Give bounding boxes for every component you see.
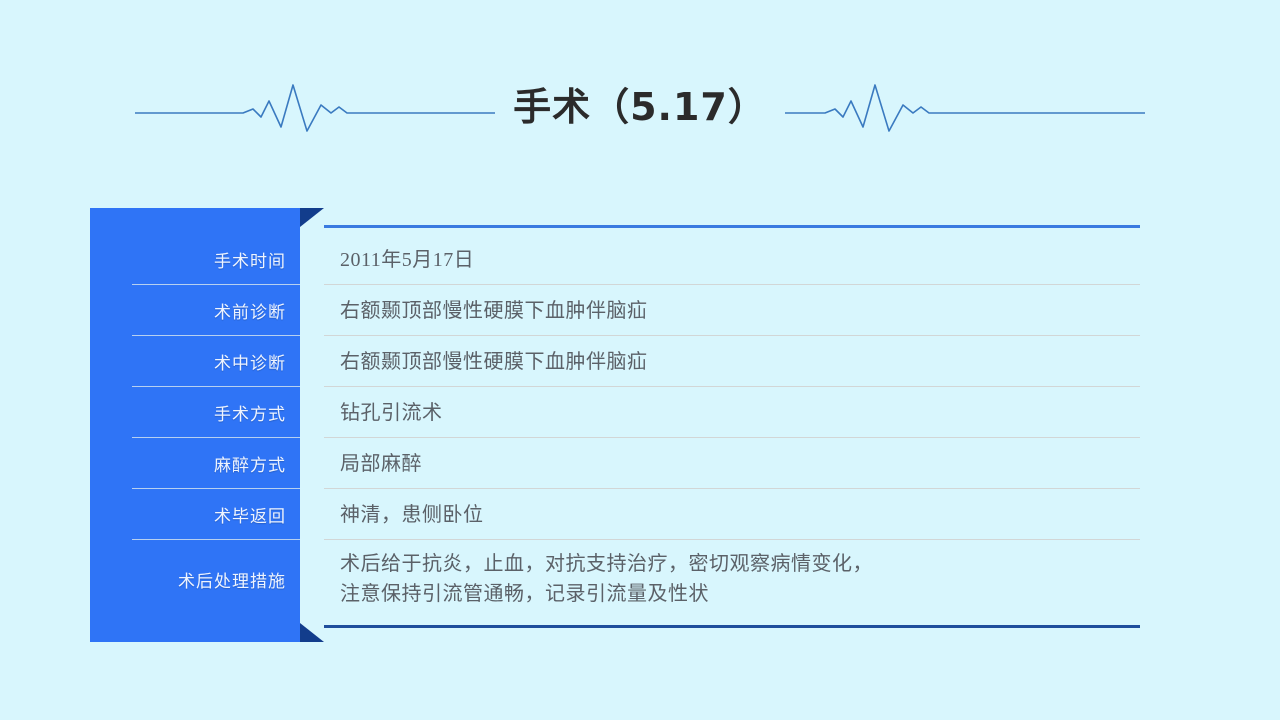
slide-title-block: 手术（5.17） xyxy=(0,72,1280,142)
row-label: 术毕返回 xyxy=(90,489,300,540)
row-label: 术后处理措施 xyxy=(90,540,300,618)
table-row: 术毕返回 神清，患侧卧位 xyxy=(90,489,1140,540)
row-label: 术前诊断 xyxy=(90,285,300,336)
row-value-line: 右额颞顶部慢性硬膜下血肿伴脑疝 xyxy=(340,296,1140,326)
surgery-info-panel: 手术时间 2011年5月17日 术前诊断 右额颞顶部慢性硬膜下血肿伴脑疝 术中诊… xyxy=(90,208,1140,642)
table-bottom-rule xyxy=(324,625,1140,628)
table-top-rule xyxy=(324,225,1140,228)
table-row: 术后处理措施 术后给于抗炎，止血，对抗支持治疗，密切观察病情变化， 注意保持引流… xyxy=(90,540,1140,618)
table-row: 术前诊断 右额颞顶部慢性硬膜下血肿伴脑疝 xyxy=(90,285,1140,336)
row-label: 麻醉方式 xyxy=(90,438,300,489)
row-value: 钻孔引流术 xyxy=(300,387,1140,438)
page-title: 手术（5.17） xyxy=(495,88,785,126)
row-value: 右额颞顶部慢性硬膜下血肿伴脑疝 xyxy=(300,336,1140,387)
ecg-line-right-icon xyxy=(785,79,1145,135)
table-row: 术中诊断 右额颞顶部慢性硬膜下血肿伴脑疝 xyxy=(90,336,1140,387)
table-row: 麻醉方式 局部麻醉 xyxy=(90,438,1140,489)
row-label: 术中诊断 xyxy=(90,336,300,387)
row-value: 右额颞顶部慢性硬膜下血肿伴脑疝 xyxy=(300,285,1140,336)
row-value-line: 神清，患侧卧位 xyxy=(340,500,1140,530)
row-label: 手术方式 xyxy=(90,387,300,438)
row-value-line: 钻孔引流术 xyxy=(340,398,1140,428)
row-value: 术后给于抗炎，止血，对抗支持治疗，密切观察病情变化， 注意保持引流管通畅，记录引… xyxy=(300,540,1140,618)
table-row: 手术时间 2011年5月17日 xyxy=(90,234,1140,285)
row-value: 神清，患侧卧位 xyxy=(300,489,1140,540)
table-row: 手术方式 钻孔引流术 xyxy=(90,387,1140,438)
row-value: 局部麻醉 xyxy=(300,438,1140,489)
row-value-line: 术后给于抗炎，止血，对抗支持治疗，密切观察病情变化， xyxy=(340,549,1140,579)
ecg-line-left-icon xyxy=(135,79,495,135)
row-value: 2011年5月17日 xyxy=(300,234,1140,285)
info-row-list: 手术时间 2011年5月17日 术前诊断 右额颞顶部慢性硬膜下血肿伴脑疝 术中诊… xyxy=(90,234,1140,618)
row-value-line: 右额颞顶部慢性硬膜下血肿伴脑疝 xyxy=(340,347,1140,377)
row-label: 手术时间 xyxy=(90,234,300,285)
row-value-line: 局部麻醉 xyxy=(340,449,1140,479)
row-value-line: 注意保持引流管通畅，记录引流量及性状 xyxy=(340,579,1140,609)
row-value-line: 2011年5月17日 xyxy=(340,245,1140,275)
